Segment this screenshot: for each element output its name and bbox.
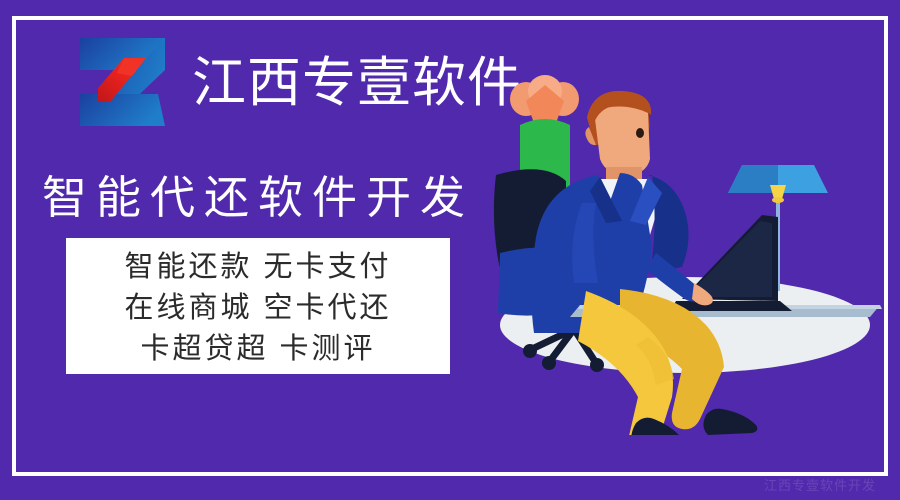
frame-border-left bbox=[12, 16, 16, 476]
watermark: 江西专壹软件开发 bbox=[764, 478, 876, 494]
feature-line-3: 卡超贷超 卡测评 bbox=[66, 329, 450, 370]
frame-border-bottom bbox=[12, 472, 888, 476]
man-working-on-laptop-illustration bbox=[470, 75, 890, 435]
feature-line-2: 在线商城 空卡代还 bbox=[66, 288, 450, 329]
feature-line-1: 智能还款 无卡支付 bbox=[66, 247, 450, 288]
feature-box: 智能还款 无卡支付 在线商城 空卡代还 卡超贷超 卡测评 bbox=[66, 238, 450, 374]
z-logo-icon bbox=[72, 26, 182, 138]
cactus-flower bbox=[510, 75, 579, 123]
page-title: 智能代还软件开发 bbox=[42, 170, 474, 226]
frame-border-top bbox=[12, 16, 888, 20]
promotional-banner: 江西专壹软件 智能代还软件开发 智能还款 无卡支付 在线商城 空卡代还 卡超贷超… bbox=[0, 0, 900, 500]
